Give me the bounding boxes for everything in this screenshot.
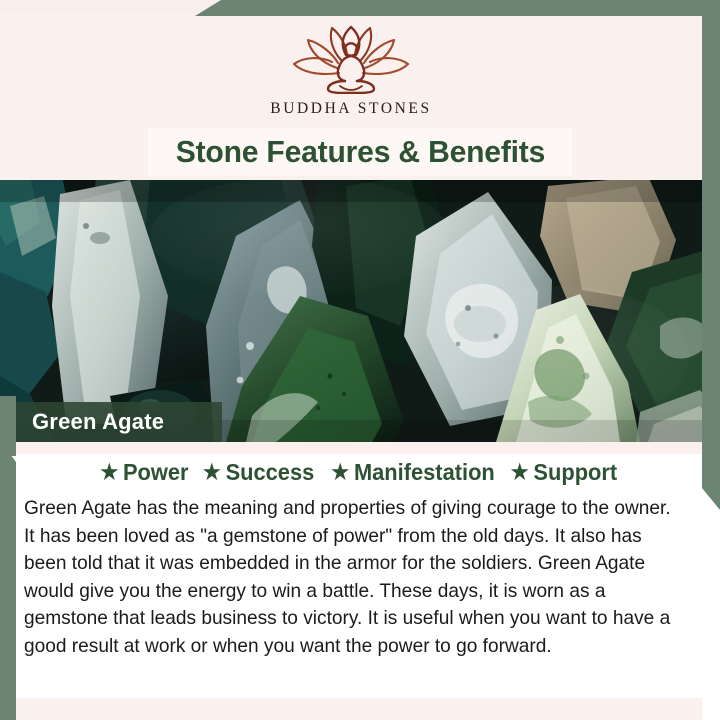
benefit-label: Power [123,459,189,486]
brand-name: BUDDHA STONES [270,100,431,118]
infographic-page: BUDDHA STONES Stone Features & Benefits [0,0,720,720]
benefit-item-success: ★ Success [203,459,314,486]
lotus-meditation-icon [284,24,418,94]
star-icon: ★ [101,462,119,483]
benefits-row: ★ Power ★ Success ★ Manifestation ★ Supp… [16,459,702,486]
frame-accent-right [702,0,720,510]
brand-logo-block: BUDDHA STONES [0,24,702,118]
benefit-label: Success [226,459,315,486]
page-title-band: Stone Features & Benefits [148,128,572,176]
star-icon: ★ [203,462,221,483]
description-text: Green Agate has the meaning and properti… [24,495,686,661]
frame-accent-left [0,440,16,720]
star-icon: ★ [510,462,528,483]
frame-accent-top [195,0,720,16]
page-title: Stone Features & Benefits [175,134,544,170]
benefit-label: Manifestation [353,459,494,486]
content-panel: ★ Power ★ Success ★ Manifestation ★ Supp… [16,454,702,700]
benefit-item-power: ★ Power [101,459,189,486]
content-divider-strip [16,442,702,454]
benefit-item-manifestation: ★ Manifestation [331,459,494,486]
benefit-label: Support [533,459,617,486]
footer-strip [16,698,702,720]
stone-name-label: Green Agate [32,409,164,435]
stone-name-banner: Green Agate [0,402,222,442]
star-icon: ★ [331,462,349,483]
benefit-item-support: ★ Support [510,459,616,486]
